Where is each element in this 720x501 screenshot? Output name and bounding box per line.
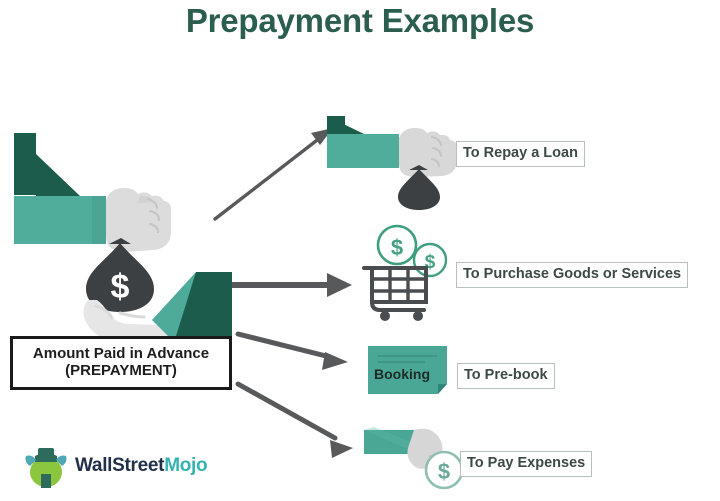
shopping-cart-with-dollar-coins-icon: $ $ <box>364 226 446 321</box>
prepayment-source-box[interactable]: Amount Paid in Advance (PREPAYMENT) <box>10 336 232 390</box>
source-box-line-2: (PREPAYMENT) <box>65 363 177 380</box>
branch-label-pre-book[interactable]: To Pre-book <box>457 363 555 389</box>
source-box-line-1: Amount Paid in Advance <box>33 346 209 363</box>
branch-label-pay-expenses[interactable]: To Pay Expenses <box>460 451 592 477</box>
logo-text-primary: WallStreet <box>75 455 164 476</box>
wallstreetmojo-logo[interactable]: WallStreetMojo <box>22 446 207 486</box>
booking-card-label: Booking <box>374 366 430 382</box>
hands-exchanging-money-bag-illustration: $ <box>14 133 232 344</box>
arrow-to-pay-expenses <box>238 384 353 458</box>
hand-dropping-coin-icon: $ <box>364 427 462 488</box>
svg-text:$: $ <box>438 459 450 484</box>
arrow-to-repay-a-loan <box>215 128 333 219</box>
diagram-canvas: Prepayment Examples $ <box>0 0 720 501</box>
logo-text-accent: Mojo <box>164 455 207 476</box>
svg-text:$: $ <box>111 268 130 306</box>
arrow-to-purchase-goods-or-services <box>232 273 352 297</box>
diagram-graphics-layer: $ <box>0 0 720 501</box>
branch-label-repay-loan[interactable]: To Repay a Loan <box>456 141 585 167</box>
hand-holding-money-bag-icon <box>327 116 457 210</box>
branch-label-purchase-goods[interactable]: To Purchase Goods or Services <box>456 262 688 288</box>
svg-text:$: $ <box>391 235 403 260</box>
arrow-to-pre-book <box>238 334 348 370</box>
